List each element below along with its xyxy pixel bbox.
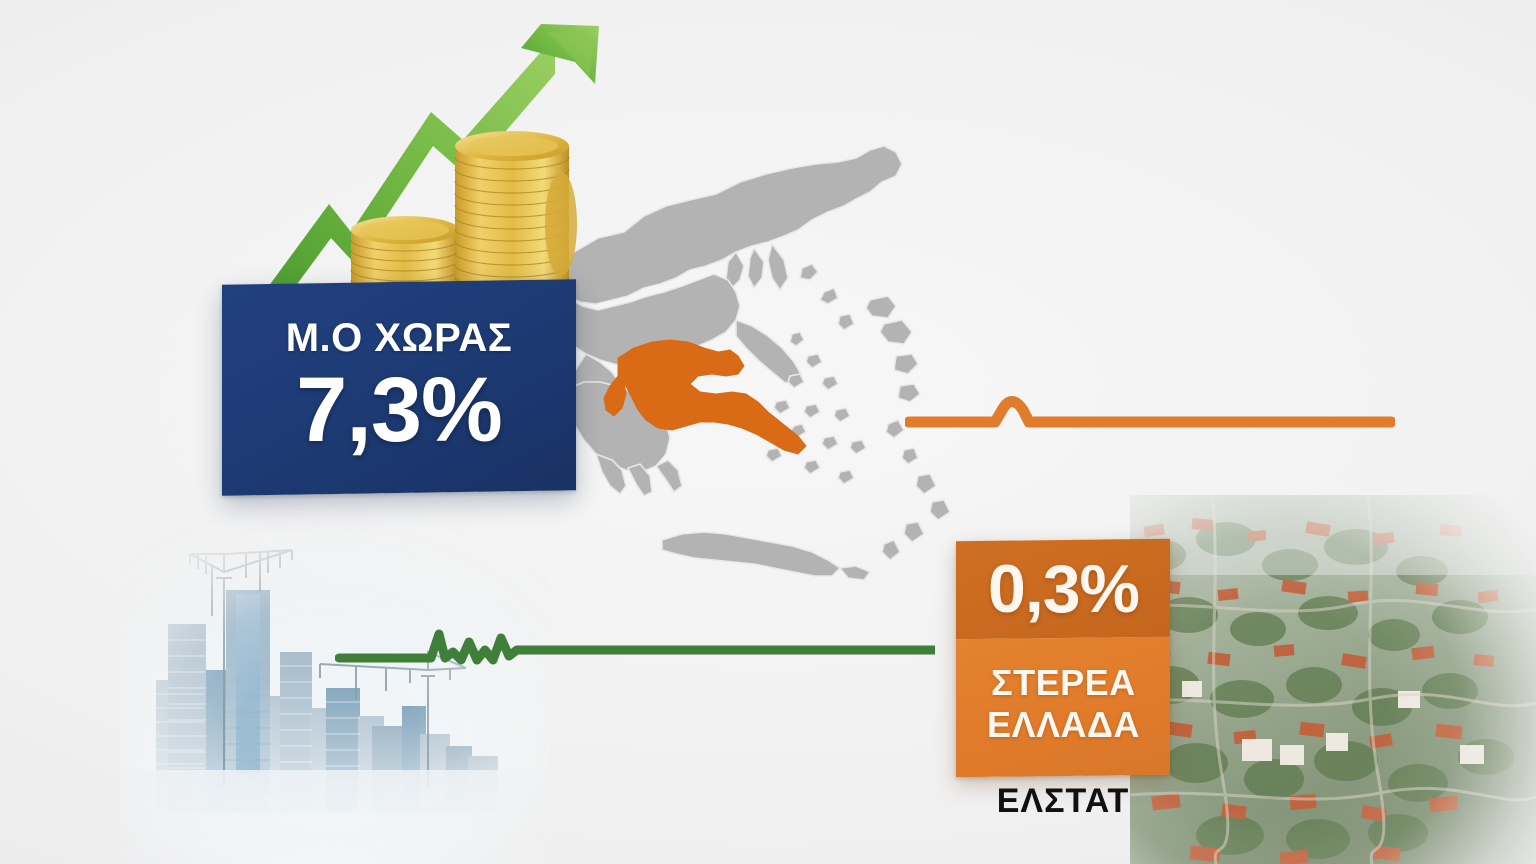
region-name-line-2: ΕΛΛΑΔΑ [987, 704, 1140, 746]
region-card[interactable]: 0,3% ΣΤΕΡΕΑ ΕΛΛΑΔΑ [956, 539, 1170, 778]
region-name-line-1: ΣΤΕΡΕΑ [991, 662, 1136, 704]
region-value: 0,3% [988, 555, 1139, 623]
aerial-suburb-photo [1130, 495, 1536, 864]
national-average-value: 7,3% [222, 364, 576, 458]
national-average-card[interactable]: Μ.Ο ΧΩΡΑΣ 7,3% [222, 279, 576, 496]
orange-connector-line [905, 388, 1395, 438]
national-average-label: Μ.Ο ΧΩΡΑΣ [222, 318, 576, 358]
region-name-section: ΣΤΕΡΕΑ ΕΛΛΑΔΑ [956, 637, 1170, 778]
infographic-stage: Μ.Ο ΧΩΡΑΣ 7,3% 0,3% ΣΤΕΡΕΑ ΕΛΛΑΔΑ ΕΛΣΤΑΤ [0, 0, 1536, 864]
source-label: ΕΛΣΤΑΤ [956, 782, 1170, 821]
construction-skyline-photo [120, 520, 550, 864]
green-connector-line [335, 618, 935, 674]
growth-arrow-and-coins [255, 18, 615, 318]
region-value-section: 0,3% [956, 539, 1170, 640]
